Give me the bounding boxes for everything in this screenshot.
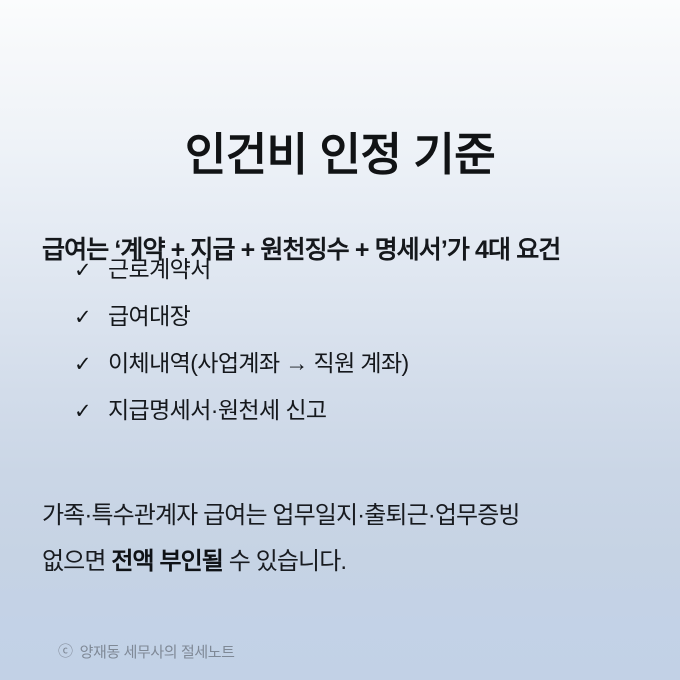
- check-icon: ✓: [74, 260, 108, 281]
- list-item-label: 급여대장: [108, 305, 190, 328]
- list-item: ✓ 근로계약서: [74, 258, 654, 305]
- requirements-checklist: ✓ 근로계약서 ✓ 급여대장 ✓ 이체내역(사업계좌 → 직원 계좌) ✓ 지급…: [74, 258, 654, 446]
- list-item: ✓ 지급명세서·원천세 신고: [74, 399, 654, 446]
- list-item-label: 근로계약서: [108, 258, 211, 281]
- check-icon: ✓: [74, 307, 108, 328]
- list-item: ✓ 이체내역(사업계좌 → 직원 계좌): [74, 352, 654, 399]
- warning-note-line-1: 가족·특수관계자 급여는 업무일지·출퇴근·업무증빙: [42, 493, 652, 539]
- list-item-label: 이체내역(사업계좌 → 직원 계좌): [108, 352, 409, 375]
- warning-note: 가족·특수관계자 급여는 업무일지·출퇴근·업무증빙 없으면 전액 부인될 수 …: [42, 493, 652, 585]
- warning-note-line-2: 없으면 전액 부인될 수 있습니다.: [42, 539, 652, 585]
- list-item: ✓ 급여대장: [74, 305, 654, 352]
- check-icon: ✓: [74, 354, 108, 375]
- warning-note-suffix: 수 있습니다.: [223, 548, 346, 575]
- footer-label: 양재동 세무사의 절세노트: [80, 641, 235, 662]
- warning-note-prefix: 없으면: [42, 548, 111, 575]
- warning-note-emphasis: 전액 부인될: [111, 548, 223, 575]
- footer-watermark: ⓒ 양재동 세무사의 절세노트: [58, 641, 235, 662]
- page-title: 인건비 인정 기준: [0, 128, 680, 182]
- copyright-icon: ⓒ: [58, 644, 73, 659]
- info-card: 인건비 인정 기준 급여는 ‘계약 + 지급 + 원천징수 + 명세서’가 4대…: [0, 0, 680, 680]
- check-icon: ✓: [74, 401, 108, 422]
- list-item-label: 지급명세서·원천세 신고: [108, 399, 326, 422]
